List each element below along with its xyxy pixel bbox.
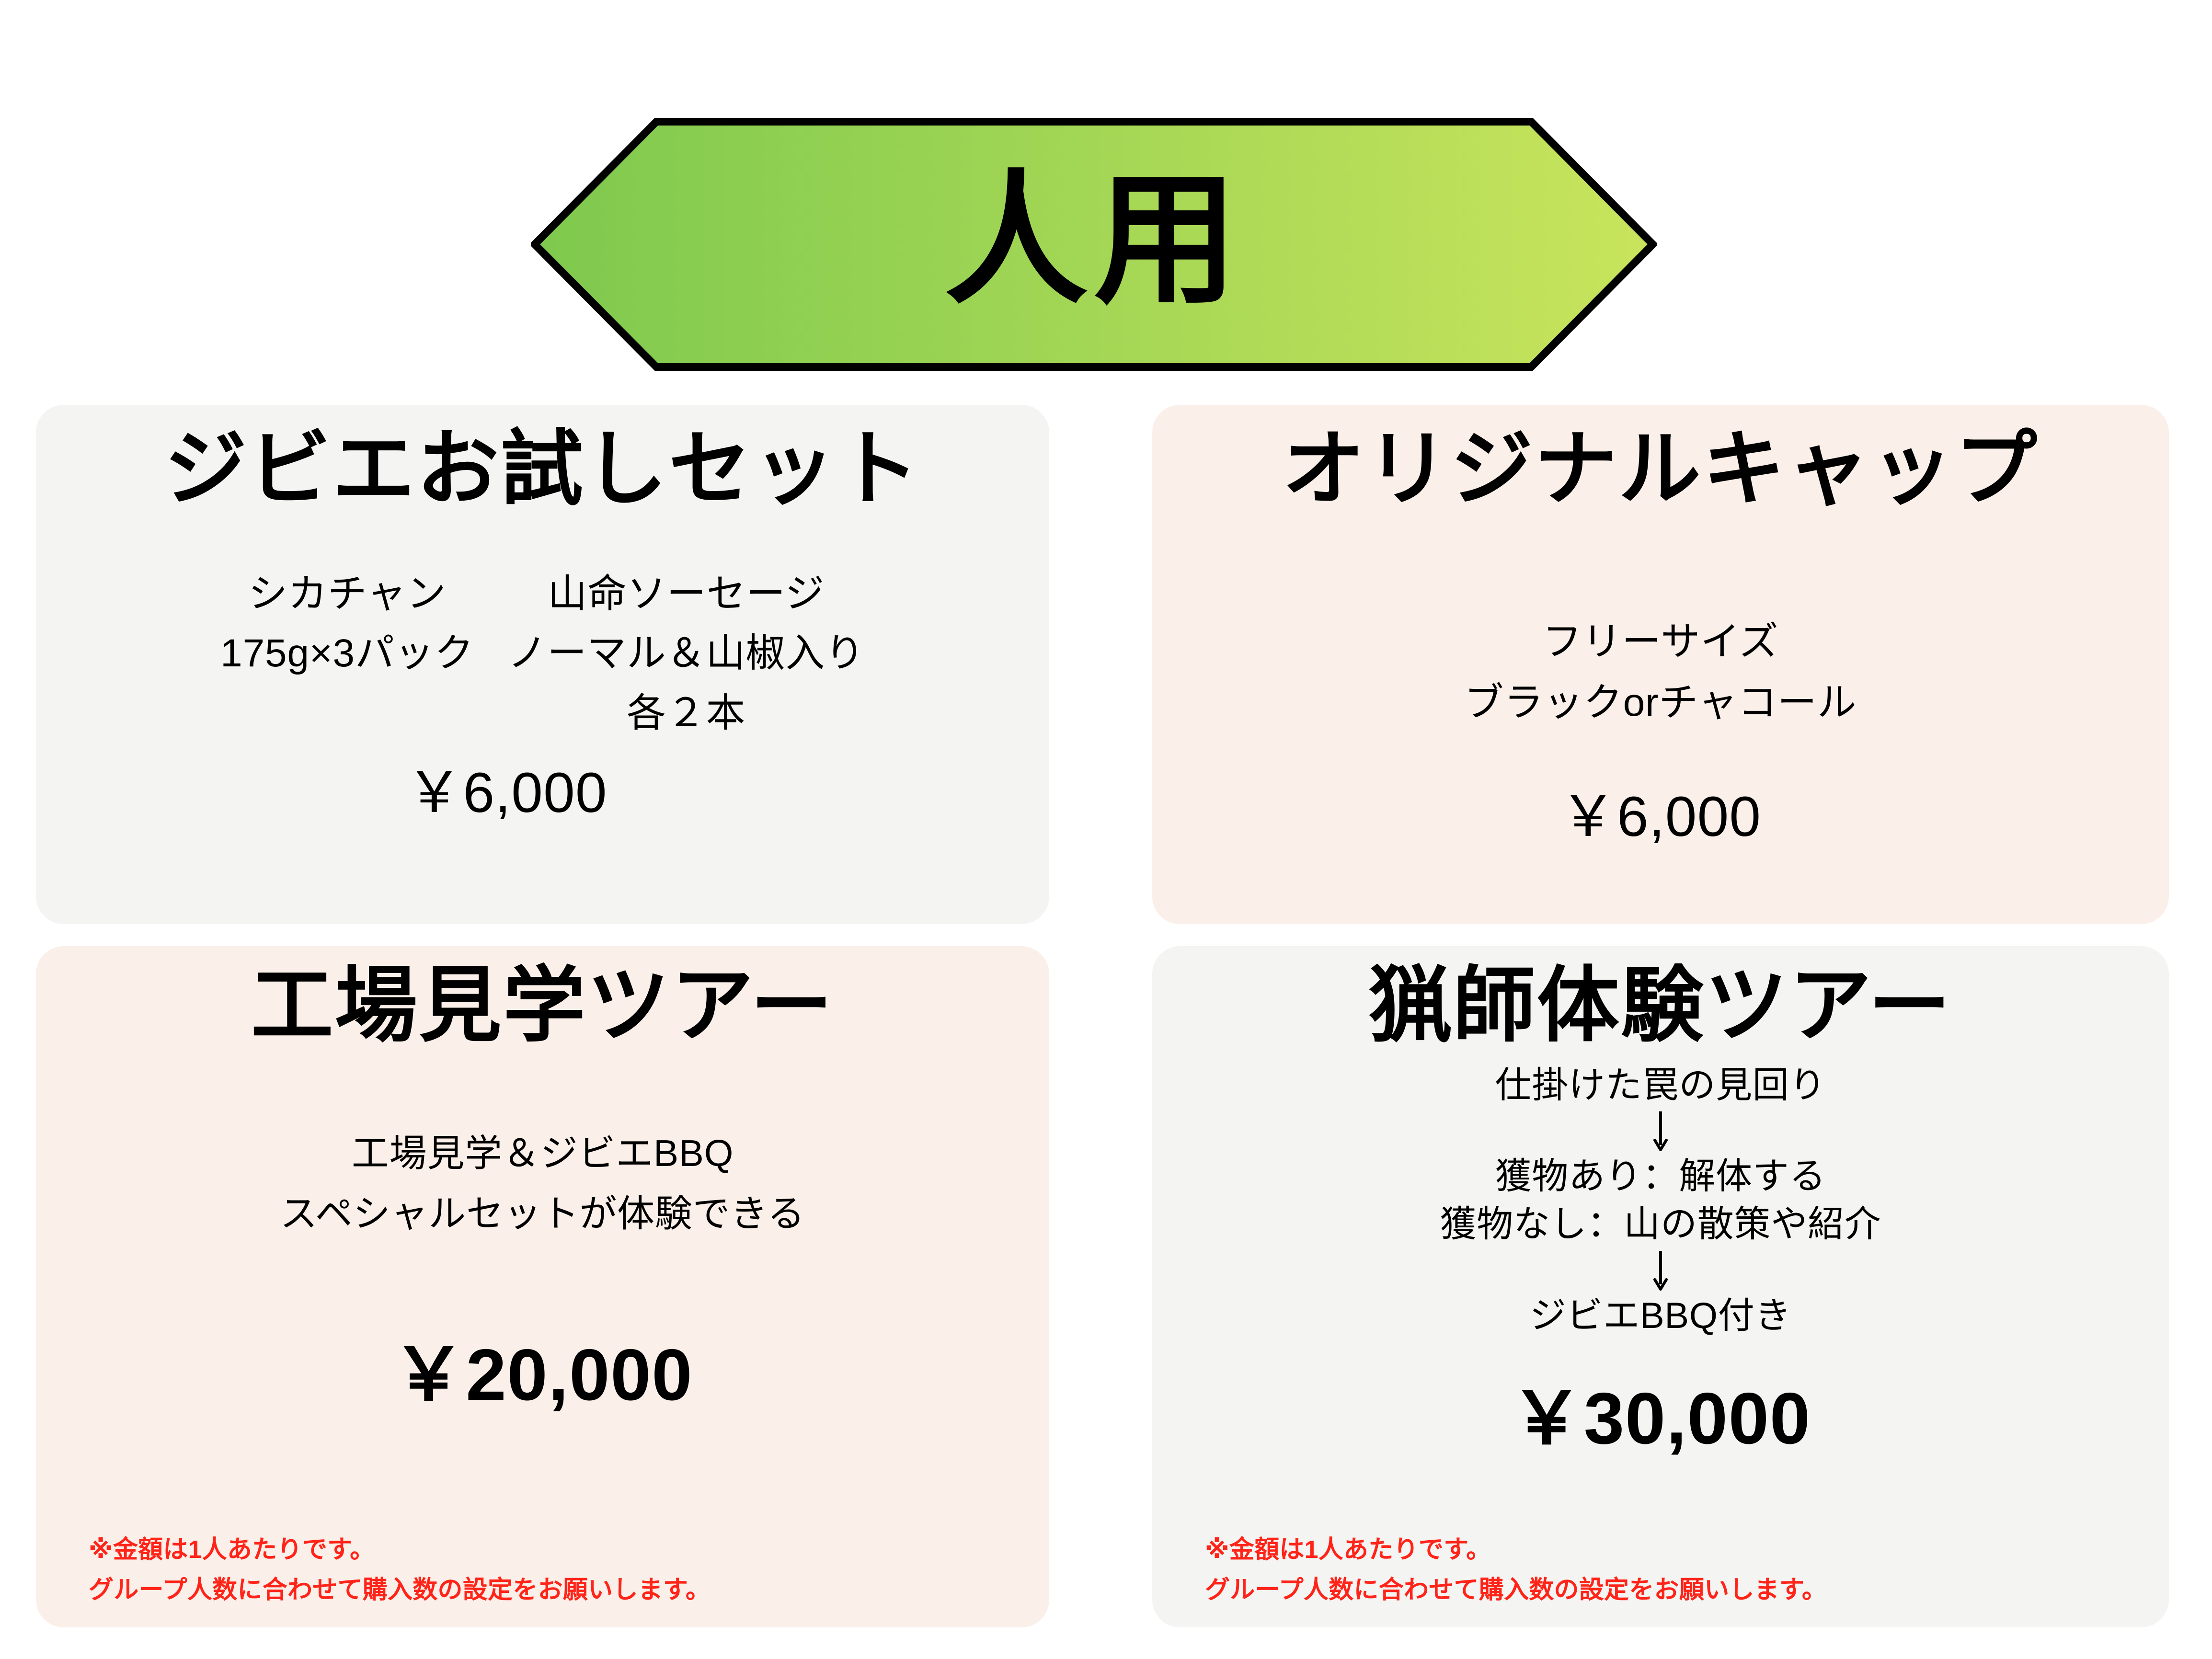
arrow-down-icon — [1651, 1250, 1670, 1291]
flow-step-catch-yes: 獲物あり：解体する — [1152, 1153, 2169, 1201]
card-details: 工場見学＆ジビエBBQ スペシャルセットが体験できる — [36, 1123, 1049, 1244]
product-card-hunter-experience-tour[interactable]: 猟師体験ツアー 仕掛けた罠の見回り 獲物あり：解体する 獲物なし：山の散策や紹介… — [1152, 946, 2169, 1627]
product-card-original-cap[interactable]: オリジナルキャップ フリーサイズ ブラックorチャコール ￥6,000 — [1152, 405, 2169, 924]
card-detail-columns: シカチャン 175g×3パック 山命ソーセージ ノーマル＆山椒入り 各２本 — [36, 564, 1049, 744]
product-card-grid: ジビエお試しセット シカチャン 175g×3パック 山命ソーセージ ノーマル＆山… — [36, 405, 2169, 1627]
note-line: ※金額は1人あたりです。 — [89, 1530, 711, 1570]
flow-step-bbq-included: ジビエBBQ付き — [1152, 1292, 2169, 1340]
flow-step-patrol-traps: 仕掛けた罠の見回り — [1152, 1062, 2169, 1110]
note-line: グループ人数に合わせて購入数の設定をお願いします。 — [89, 1570, 711, 1610]
card-note: ※金額は1人あたりです。 グループ人数に合わせて購入数の設定をお願いします。 — [1205, 1530, 1827, 1610]
detail-line: ブラックorチャコール — [1152, 672, 2169, 733]
banner-title: 人用 — [531, 118, 1657, 371]
detail-column-shikachan: シカチャン 175g×3パック — [220, 564, 474, 684]
detail-line: スペシャルセットが体験できる — [36, 1183, 1049, 1244]
detail-line: シカチャン — [220, 564, 474, 624]
card-details: フリーサイズ ブラックorチャコール — [1152, 611, 2169, 733]
product-card-gibier-trial-set[interactable]: ジビエお試しセット シカチャン 175g×3パック 山命ソーセージ ノーマル＆山… — [36, 405, 1049, 924]
flow-step-catch-no: 獲物なし：山の散策や紹介 — [1152, 1201, 2169, 1248]
card-price: ￥20,000 — [36, 1316, 1049, 1421]
detail-column-sausage: 山命ソーセージ ノーマル＆山椒入り 各２本 — [507, 564, 864, 744]
card-note: ※金額は1人あたりです。 グループ人数に合わせて購入数の設定をお願いします。 — [89, 1530, 711, 1610]
card-title: 工場見学ツアー — [36, 960, 1049, 1052]
note-line: ※金額は1人あたりです。 — [1205, 1530, 1827, 1570]
card-title: オリジナルキャップ — [1152, 423, 2169, 515]
card-price: ￥6,000 — [1152, 770, 2169, 852]
note-line: グループ人数に合わせて購入数の設定をお願いします。 — [1205, 1570, 1827, 1610]
section-banner: 人用 — [531, 118, 1657, 371]
card-title: 猟師体験ツアー — [1152, 960, 2169, 1052]
card-price: ￥6,000 — [36, 746, 977, 828]
detail-line: 工場見学＆ジビエBBQ — [36, 1123, 1049, 1183]
product-card-factory-tour[interactable]: 工場見学ツアー 工場見学＆ジビエBBQ スペシャルセットが体験できる ￥20,0… — [36, 946, 1049, 1627]
tour-flow-diagram: 仕掛けた罠の見回り 獲物あり：解体する 獲物なし：山の散策や紹介 ジビエBBQ付… — [1152, 1062, 2169, 1340]
detail-line: ノーマル＆山椒入り — [507, 624, 864, 684]
detail-line: フリーサイズ — [1152, 611, 2169, 672]
card-price: ￥30,000 — [1152, 1359, 2169, 1464]
arrow-down-icon — [1651, 1110, 1670, 1152]
card-title: ジビエお試しセット — [36, 423, 1049, 515]
detail-line: 175g×3パック — [220, 624, 474, 684]
detail-line: 山命ソーセージ — [507, 564, 864, 624]
detail-line: 各２本 — [507, 684, 864, 744]
